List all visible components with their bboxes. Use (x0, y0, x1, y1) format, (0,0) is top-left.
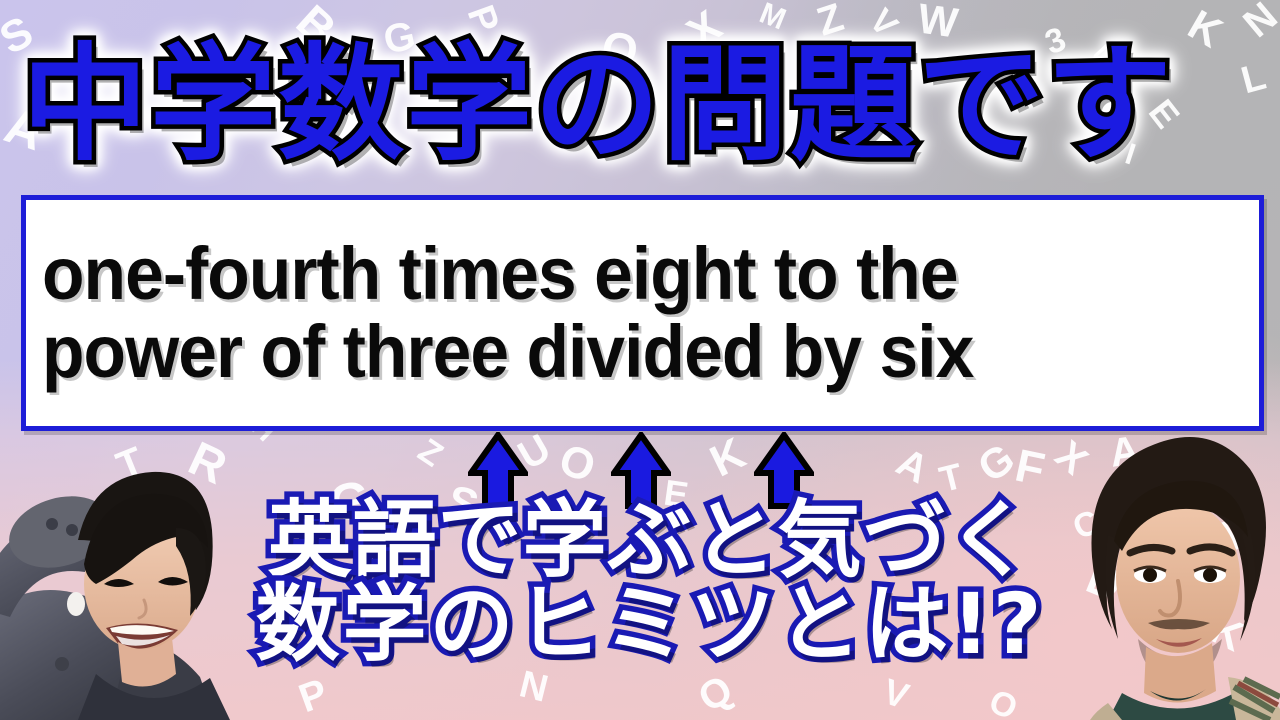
question-box: one-fourth times eight to the power of t… (21, 195, 1264, 431)
youtube-thumbnail: SABGPOXMZVW34KNELRTGZSUOEKATFGXADCYWKPNQ… (0, 0, 1280, 720)
subtitle-line-2: 数学のヒミツとは!? (200, 582, 1100, 666)
question-line-1: one-fourth times eight to the (42, 235, 1171, 313)
subtitle: 英語で学ぶと気づく 数学のヒミツとは!? (200, 498, 1100, 666)
page-title: 中学数学の問題です (22, 14, 1262, 174)
question-line-2: power of three divided by six (42, 313, 1171, 391)
subtitle-line-1: 英語で学ぶと気づく (200, 498, 1100, 582)
presenter-right-photo (1078, 425, 1280, 720)
